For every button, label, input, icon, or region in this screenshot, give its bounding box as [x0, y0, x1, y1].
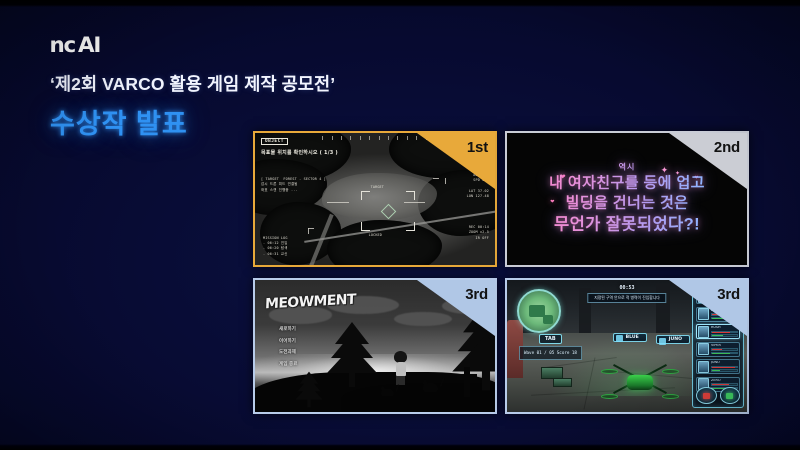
pine-tree-icon	[327, 322, 377, 387]
title-line-4: 무언가 잘못되었다?!	[507, 213, 747, 235]
contest-subtitle: ‘제2회 VARCO 활용 게임 제작 공모전’	[50, 71, 335, 96]
party-avatar	[698, 361, 709, 373]
letterbox-top	[0, 0, 800, 7]
game-screenshot-1: OBJECT 목표물 위치를 확인하시오 ( 1/3 ) [ TARGET FO…	[255, 133, 495, 265]
winner-card-3rd-a[interactable]: MEOWMENT 새로하기 이어하기 도전과제 게임 종료	[253, 278, 497, 414]
hp-bar	[711, 383, 738, 386]
mp-bar	[711, 299, 738, 302]
party-slot[interactable]: VIPER	[696, 342, 740, 357]
winners-grid: OBJECT 목표물 위치를 확인하시오 ( 1/3 ) [ TARGET FO…	[253, 131, 749, 414]
party-avatar	[698, 343, 709, 355]
winner-card-2nd[interactable]: ❤ ❤ ❤ ✦ ✦ 역시 내 여자친구를 등에 업고 빌딩을 건너는 것은 무언…	[505, 131, 749, 267]
menu-item-continue[interactable]: 이어하기	[279, 336, 298, 348]
slide-root: ncAI ‘제2회 VARCO 활용 게임 제작 공모전’ 수상작 발표	[0, 0, 800, 450]
winner-card-3rd-b[interactable]: TAB Wave 01 / 05 Score 18 00:53 지정된 구역 안…	[505, 278, 749, 414]
party-avatar	[698, 326, 709, 338]
game-menu: 새로하기 이어하기 도전과제 게임 종료	[279, 324, 298, 371]
objective-banner: 지정된 구역 안으로 적 병력이 진입합니다	[587, 293, 666, 303]
minimap[interactable]	[517, 289, 561, 333]
hud-object-label: OBJECT	[261, 138, 288, 145]
party-member-name: VIPER	[711, 344, 738, 348]
crate-prop	[553, 378, 572, 387]
player-nametag: BLUE	[613, 333, 647, 342]
cat-silhouette-icon	[423, 383, 438, 392]
menu-item-quit[interactable]: 게임 종료	[279, 359, 298, 371]
reticle-label-bottom: LOCKED	[369, 233, 382, 238]
party-member-name: BLUE	[711, 309, 738, 313]
ncai-logo: ncAI	[49, 34, 102, 58]
party-avatar	[698, 308, 709, 320]
pine-tree-small-icon	[295, 371, 323, 407]
hud-corner-block: REC 00:14 ZOOM x2.5 IR OFF	[469, 225, 489, 241]
mp-bar	[711, 369, 738, 372]
hp-bar	[711, 366, 738, 369]
tab-hint-chip: TAB	[539, 334, 562, 344]
hud-right-block-2: LAT 37.02 LON 127.48	[467, 189, 489, 200]
party-slot[interactable]: BLUE	[696, 307, 740, 322]
hp-bar	[711, 296, 738, 299]
game-screenshot-3: MEOWMENT 새로하기 이어하기 도전과제 게임 종료	[255, 280, 495, 412]
stop-button[interactable]	[696, 387, 717, 404]
hp-bar	[711, 331, 738, 334]
party-slot[interactable]: HAWK	[696, 289, 740, 304]
game-title-block: 역시 내 여자친구를 등에 업고 빌딩을 건너는 것은 무언가 잘못되었다?!	[507, 162, 747, 235]
go-button[interactable]	[720, 387, 741, 404]
hud-footer-block: MISSION LOG - 06:12 진입 - 06:20 탐색 - 06:3…	[263, 236, 288, 257]
hud-action-buttons	[696, 387, 740, 404]
logo-ai-text: AI	[78, 33, 100, 57]
player-nametag: JUNO	[656, 335, 690, 344]
title-line-2: 내 여자친구를 등에 업고	[507, 173, 747, 193]
hp-bar	[711, 313, 738, 316]
hud-top-ticks	[322, 136, 456, 142]
winner-card-1st[interactable]: OBJECT 목표물 위치를 확인하시오 ( 1/3 ) [ TARGET FO…	[253, 131, 497, 267]
match-timer: 00:53	[619, 285, 634, 291]
game-screenshot-2: ❤ ❤ ❤ ✦ ✦ 역시 내 여자친구를 등에 업고 빌딩을 건너는 것은 무언…	[507, 133, 747, 265]
party-member-name: JUNO	[711, 361, 738, 365]
party-slot[interactable]: JUNO	[696, 359, 740, 374]
game-screenshot-4: TAB Wave 01 / 05 Score 18 00:53 지정된 구역 안…	[507, 280, 747, 412]
mp-bar	[711, 352, 738, 355]
party-member-name: ZERO	[711, 379, 738, 383]
party-slot-selected[interactable]: RUSH	[696, 324, 740, 339]
party-member-name: HAWK	[711, 291, 738, 295]
party-avatar	[698, 291, 709, 303]
reticle-label-top: TARGET	[371, 185, 384, 190]
score-stat-block: Wave 01 / 05 Score 18	[519, 346, 582, 360]
hud-right-block-1: ALT 412 SPD 024	[473, 173, 489, 184]
hud-objective-text: 목표물 위치를 확인하시오 ( 1/3 )	[261, 149, 338, 156]
letterbox-bottom	[0, 444, 800, 450]
player-character	[394, 351, 407, 385]
menu-item-new-game[interactable]: 새로하기	[279, 324, 298, 336]
party-hud-panel: HAWK BLUE	[692, 285, 744, 408]
hud-left-block: [ TARGET FOREST - SECTOR 4 ] 감시 드론 피드 연결…	[261, 177, 326, 193]
title-line-1: 역시	[507, 162, 747, 173]
menu-item-achievements[interactable]: 도전과제	[279, 347, 298, 359]
cat-silhouette-icon	[381, 389, 394, 397]
mp-bar	[711, 317, 738, 320]
target-diamond-icon	[380, 204, 396, 220]
hp-bar	[711, 348, 738, 351]
targeting-reticle: TARGET LOCKED	[361, 191, 415, 231]
party-member-name: RUSH	[711, 326, 738, 330]
title-line-3: 빌딩을 건너는 것은	[507, 193, 747, 213]
header: ncAI ‘제2회 VARCO 활용 게임 제작 공모전’ 수상작 발표	[50, 34, 335, 141]
mp-bar	[711, 334, 738, 337]
drone-enemy	[603, 359, 677, 401]
logo-nc-text: nc	[49, 33, 75, 57]
